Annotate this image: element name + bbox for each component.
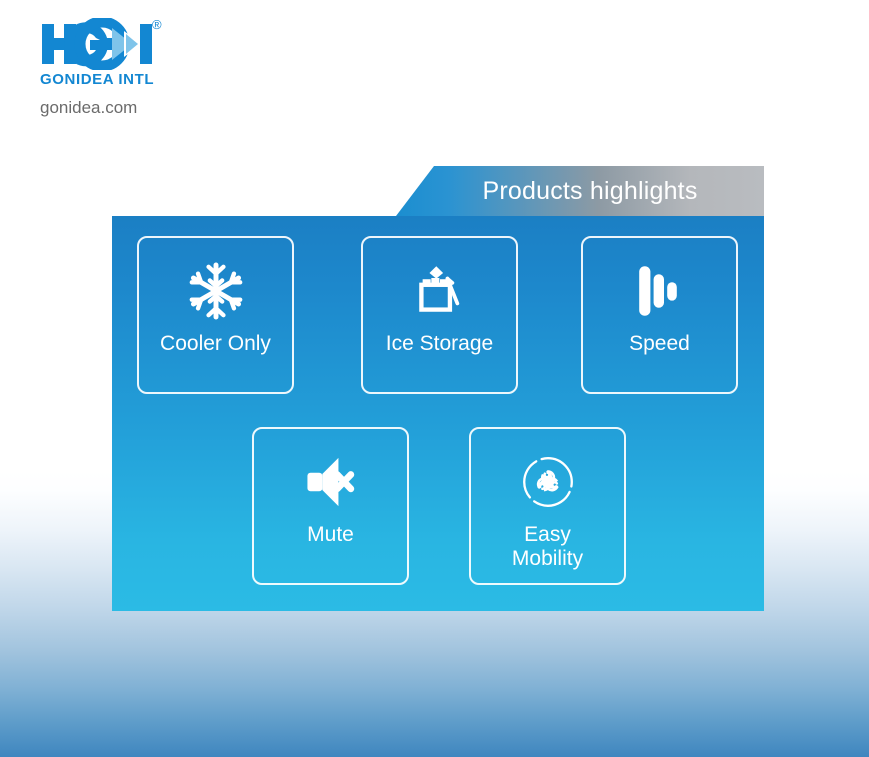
products-highlights-banner: Products highlights (396, 166, 764, 216)
ice-bucket-icon (405, 260, 475, 322)
hgi-logo-mark: ® (40, 18, 170, 70)
brand-logo-block: ® GONIDEA INTL gonidea.com (40, 18, 260, 118)
hgi-logo-icon (40, 18, 170, 70)
feature-cards-panel: Cooler Only Ice Storage (112, 216, 764, 611)
speed-bars-icon-glyph (634, 263, 686, 319)
website-url: gonidea.com (40, 98, 260, 118)
ice-bucket-icon-glyph (409, 260, 471, 322)
feature-card-label: Easy Mobility (508, 523, 587, 570)
feature-card-easy-mobility[interactable]: Easy Mobility (469, 427, 626, 585)
feature-card-label: Speed (625, 332, 694, 356)
feature-card-ice-storage[interactable]: Ice Storage (361, 236, 518, 394)
feature-card-label: Mute (303, 523, 358, 547)
speed-bars-icon (625, 260, 695, 322)
feature-card-label: Ice Storage (382, 332, 497, 356)
feature-card-mute[interactable]: Mute (252, 427, 409, 585)
company-name: GONIDEA INTL (40, 71, 260, 88)
snowflake-icon (181, 260, 251, 322)
speaker-mute-icon (296, 451, 366, 513)
banner-title: Products highlights (396, 166, 764, 216)
triskelion-wheel-icon (513, 451, 583, 513)
triskelion-wheel-icon-glyph (519, 453, 577, 511)
feature-card-label: Cooler Only (156, 332, 275, 356)
snowflake-icon-glyph (185, 260, 247, 322)
registered-trademark-icon: ® (152, 18, 162, 31)
feature-card-speed[interactable]: Speed (581, 236, 738, 394)
speaker-mute-icon-glyph (300, 453, 362, 511)
feature-card-cooler-only[interactable]: Cooler Only (137, 236, 294, 394)
